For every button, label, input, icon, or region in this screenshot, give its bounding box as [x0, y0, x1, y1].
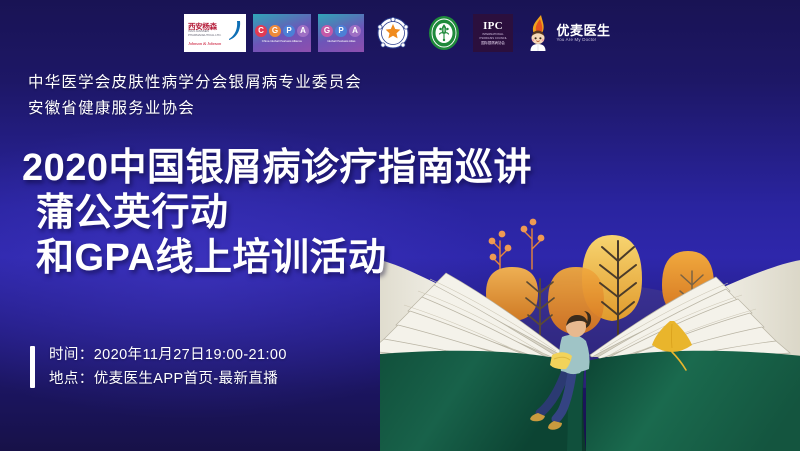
organizer-line-2: 安徽省健康服务业协会 [28, 96, 362, 122]
event-poster: 西安杨森 XIAN JANSSEN PHARMACEUTICAL LTD. Jo… [0, 0, 800, 451]
cgpa-letter-a: A [297, 25, 309, 37]
organizer-line-1: 中华医学会皮肤性病学分会银屑病专业委员会 [28, 70, 362, 96]
book-cover [380, 351, 800, 451]
ipc-cn-text: 国际银屑病协会 [481, 42, 505, 45]
event-time: 时间：2020年11月27日19:00-21:00 [49, 346, 287, 364]
janssen-jj-text: Johnson & Johnson [188, 42, 221, 47]
ipc-sub-line2: PSORIASIS COUNCIL [479, 37, 506, 40]
logo-youmai-doctor: 优麦医生 You Are My Doctor [520, 14, 616, 52]
main-title: 2020中国银屑病诊疗指南巡讲 蒲公英行动 和GPA线上培训活动 [22, 146, 532, 281]
cgpa-letter-c: C [255, 25, 267, 37]
cgpa-letter-circles: C G P A [255, 25, 309, 37]
organizer-block: 中华医学会皮肤性病学分会银屑病专业委员会 安徽省健康服务业协会 [28, 70, 362, 122]
youmai-cn-text: 优麦医生 [556, 24, 610, 37]
title-line-1: 2020中国银屑病诊疗指南巡讲 [22, 146, 532, 191]
cgpa-letter-p: P [283, 25, 295, 37]
cgpa-subtitle: China Global Psoriasis Alliance [262, 39, 302, 43]
gpa-subtitle: Global Psoriasis Atlas [327, 39, 355, 43]
title-line-3: 和GPA线上培训活动 [22, 236, 532, 281]
janssen-en-line2: PHARMACEUTICAL LTD. [188, 34, 221, 38]
cgpa-letter-g: G [269, 25, 281, 37]
sponsor-logo-strip: 西安杨森 XIAN JANSSEN PHARMACEUTICAL LTD. Jo… [0, 12, 800, 54]
title-line-2: 蒲公英行动 [22, 191, 532, 236]
youmai-en-text: You Are My Doctor [556, 38, 610, 42]
logo-gpa: G P A Global Psoriasis Atlas [318, 14, 364, 52]
event-info-block: 时间：2020年11月27日19:00-21:00 地点：优麦医生APP首页-最… [30, 346, 287, 388]
gpa-letter-a: A [349, 25, 361, 37]
logo-ipc: IPC INTERNATIONAL PSORIASIS COUNCIL 国际银屑… [473, 14, 513, 52]
logo-university-seal [422, 14, 466, 52]
gpa-letter-p: P [335, 25, 347, 37]
logo-cgpa: C G P A China Global Psoriasis Alliance [253, 14, 311, 52]
youmai-mascot-icon [525, 14, 553, 52]
event-place: 地点：优麦医生APP首页-最新直播 [49, 370, 287, 388]
janssen-swoosh-icon [226, 19, 242, 41]
logo-cma-dermatology-seal [371, 14, 415, 52]
ipc-main-text: IPC [483, 21, 503, 32]
gpa-letter-circles: G P A [321, 25, 361, 37]
info-accent-bar [30, 346, 35, 388]
gpa-letter-g: G [321, 25, 333, 37]
logo-xian-janssen: 西安杨森 XIAN JANSSEN PHARMACEUTICAL LTD. Jo… [184, 14, 246, 52]
